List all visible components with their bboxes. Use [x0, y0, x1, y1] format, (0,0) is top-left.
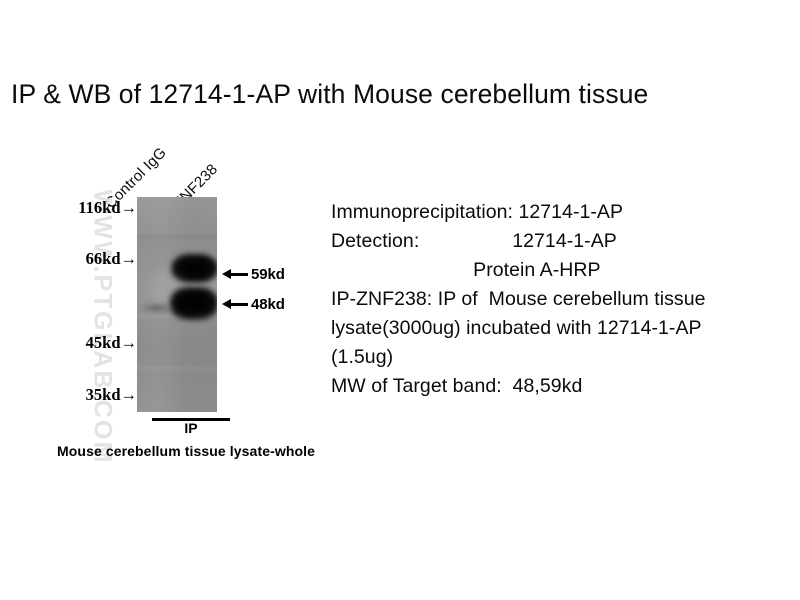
band-annotation-48kd-label: 48kd: [251, 296, 285, 313]
info-line-detection: Detection: 12714-1-AP: [331, 227, 797, 256]
mw-ladder: 116kd→ 66kd→ 45kd→ 35kd→: [0, 0, 137, 600]
mw-marker-66kd: 66kd→: [86, 249, 137, 269]
left-arrow-icon: [222, 269, 248, 280]
mw-marker-66kd-arrow: →: [121, 249, 138, 268]
mw-marker-35kd-arrow: →: [121, 385, 138, 404]
figure-root: IP & WB of 12714-1-AP with Mouse cerebel…: [0, 0, 800, 600]
mw-marker-45kd: 45kd→: [86, 333, 137, 353]
band-annotation-59kd: 59kd: [222, 266, 285, 283]
protein-band-48kd: [170, 287, 217, 320]
mw-marker-116kd-label: 116kd: [78, 198, 120, 217]
mw-marker-116kd: 116kd→: [78, 198, 137, 218]
info-line-immunoprecipitation: Immunoprecipitation: 12714-1-AP: [331, 198, 797, 227]
mw-marker-35kd: 35kd→: [86, 385, 137, 405]
mw-marker-35kd-label: 35kd: [86, 385, 121, 404]
info-line-antibody-amount: (1.5ug): [331, 343, 797, 372]
info-line-lysate: lysate(3000ug) incubated with 12714-1-AP: [331, 314, 797, 343]
protein-band-59kd: [171, 254, 217, 283]
experiment-info-block: Immunoprecipitation: 12714-1-AP Detectio…: [331, 198, 797, 401]
info-line-ip-znf238: IP-ZNF238: IP of Mouse cerebellum tissue: [331, 285, 797, 314]
mw-marker-66kd-label: 66kd: [86, 249, 121, 268]
western-blot-panel: Control IgG ZNF238 WWW.PTGLAB.COM 116kd→…: [0, 0, 330, 600]
blot-membrane: [137, 197, 217, 412]
blot-caption: Mouse cerebellum tissue lysate-whole: [57, 443, 315, 459]
info-line-protein-a-hrp: Protein A-HRP: [331, 256, 797, 285]
mw-marker-45kd-arrow: →: [121, 333, 138, 352]
band-annotation-59kd-label: 59kd: [251, 266, 285, 283]
protein-band-control-faint: [139, 304, 175, 313]
info-line-mw-target-band: MW of Target band: 48,59kd: [331, 372, 797, 401]
ip-group-label: IP: [152, 420, 230, 436]
mw-marker-116kd-arrow: →: [121, 198, 138, 217]
mw-marker-45kd-label: 45kd: [86, 333, 121, 352]
band-annotation-48kd: 48kd: [222, 296, 285, 313]
left-arrow-icon: [222, 299, 248, 310]
